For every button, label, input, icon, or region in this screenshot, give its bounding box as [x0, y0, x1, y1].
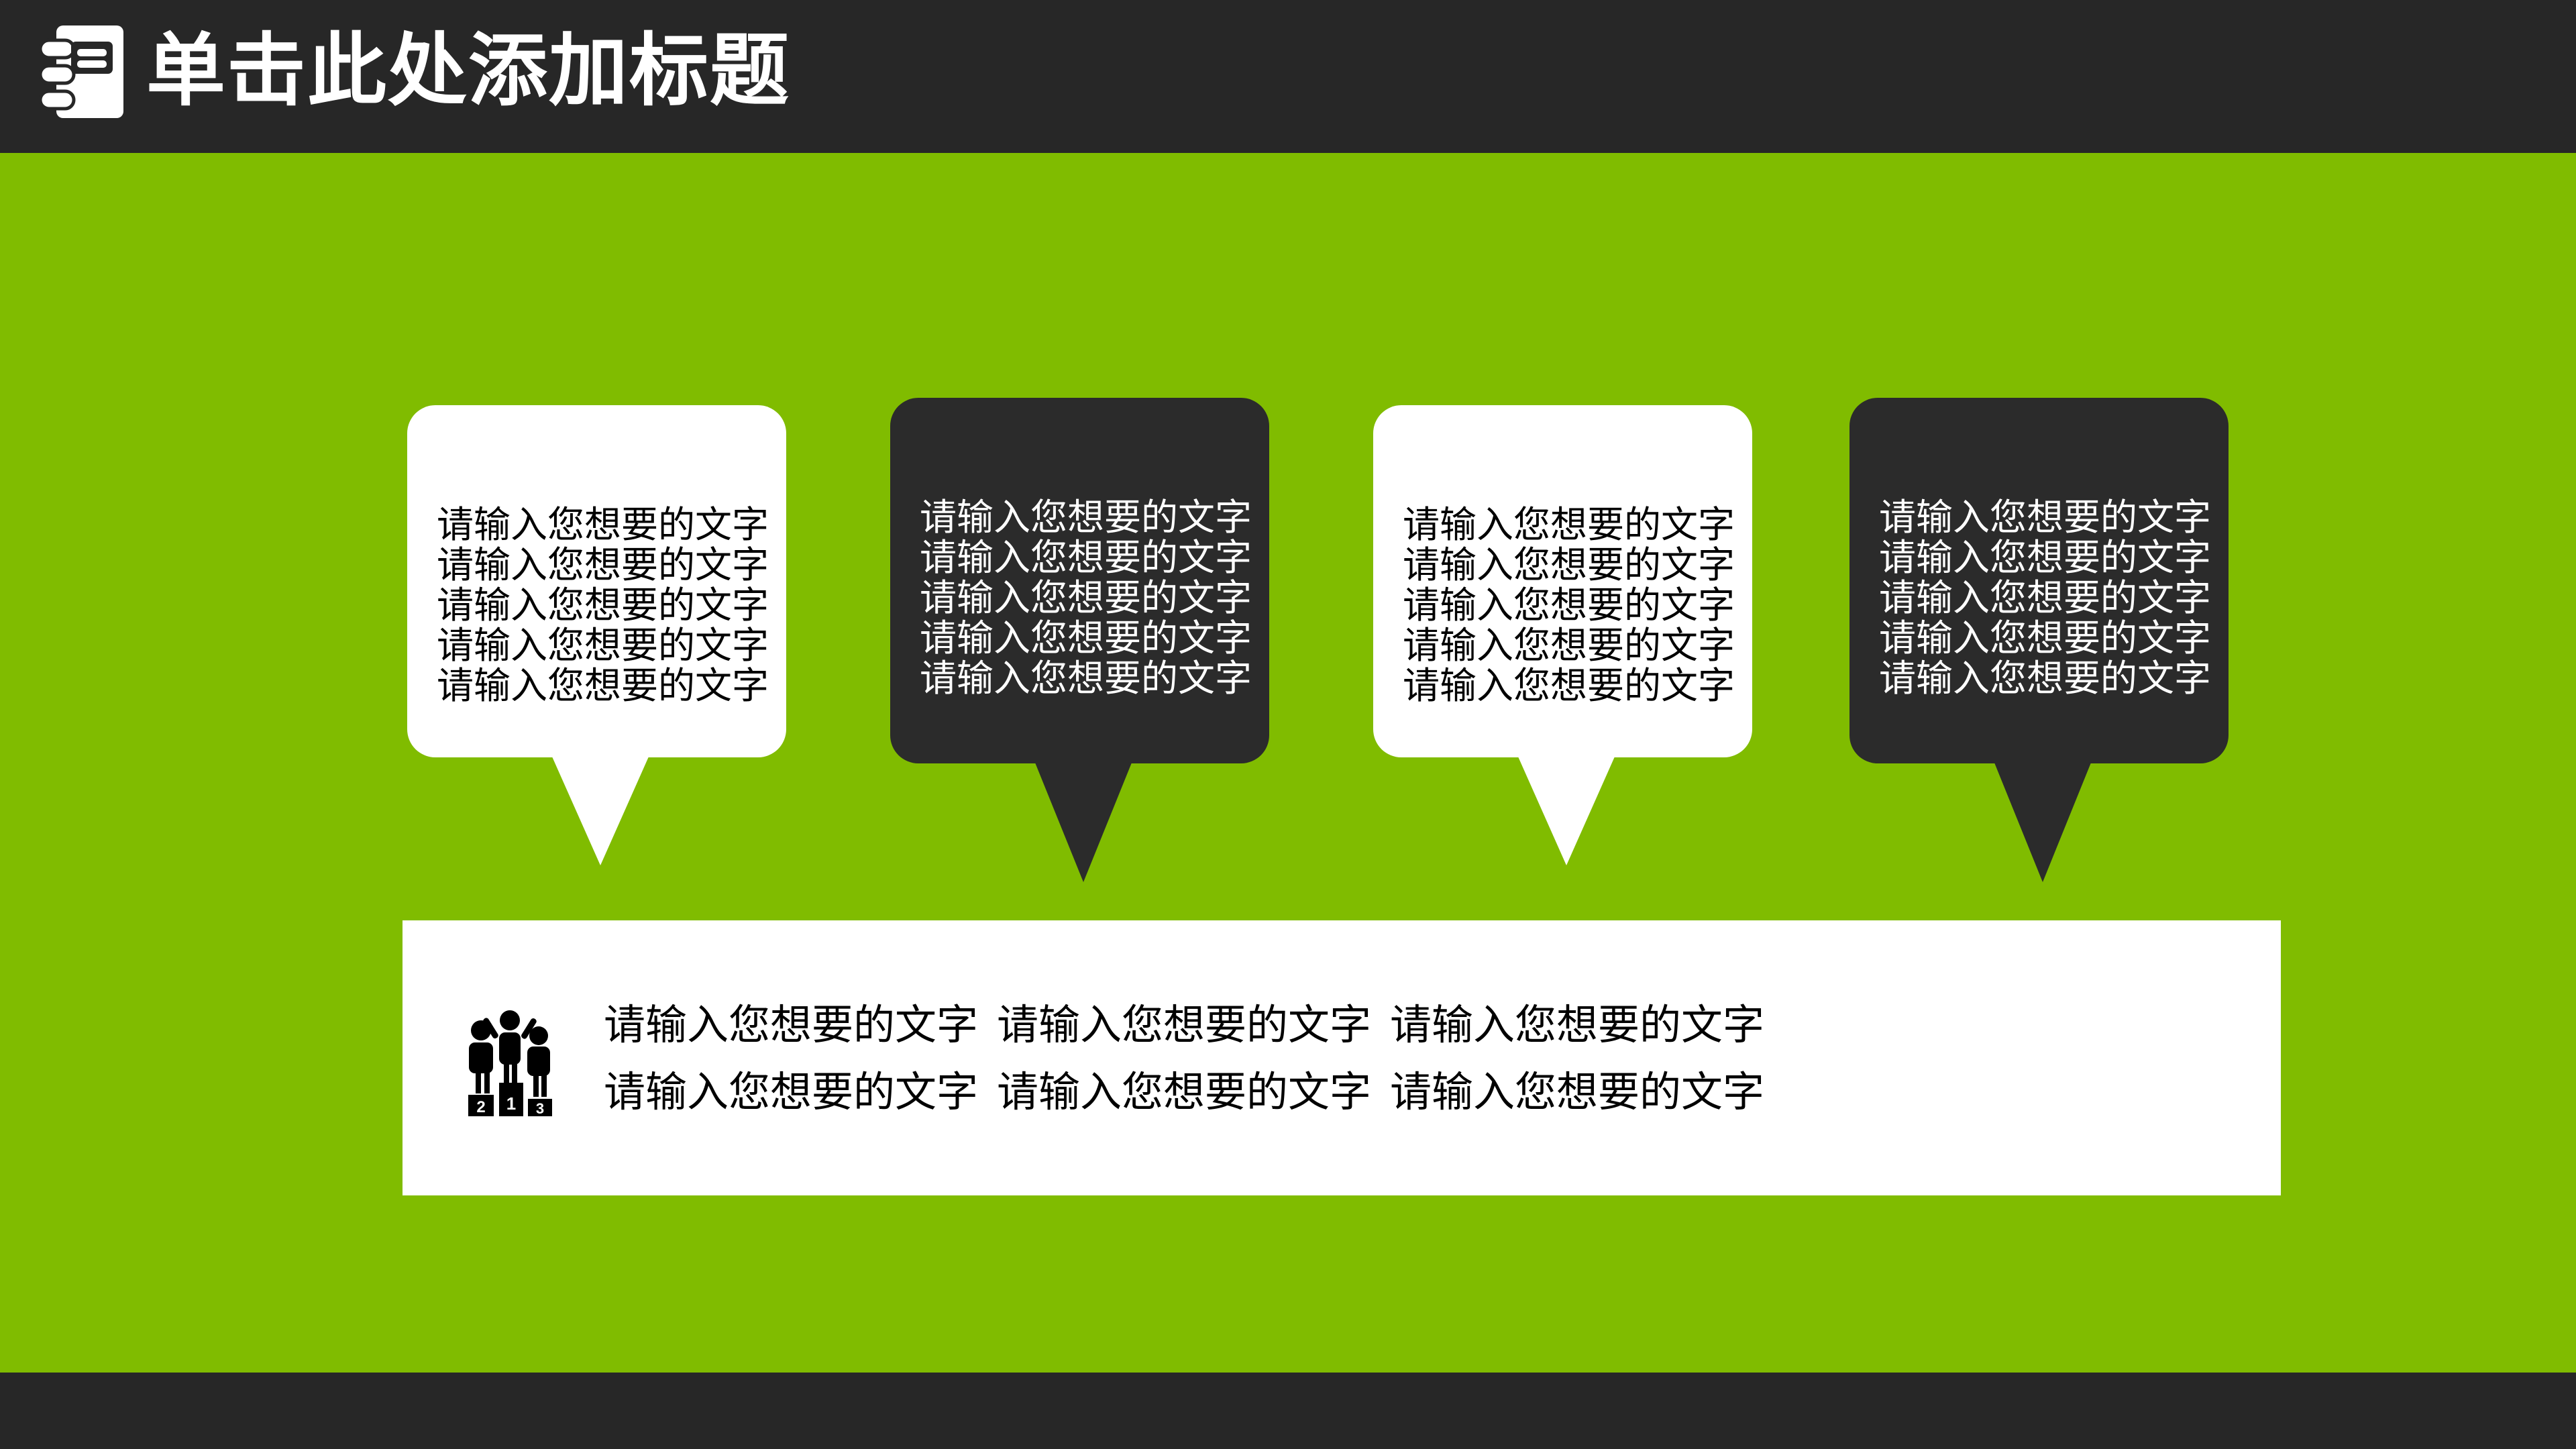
- summary-panel[interactable]: 1 2 3 请输入您想要的文字 请输入您想要的文字 请输入您想要的文字 请输入您…: [402, 920, 2281, 1195]
- podium-label-3: 3: [536, 1100, 544, 1116]
- callout-bubble-4-text: 请输入您想要的文字 请输入您想要的文字 请输入您想要的文字 请输入您想要的文字 …: [1879, 497, 2211, 698]
- summary-row: 请输入您想要的文字 请输入您想要的文字 请输入您想要的文字: [604, 1000, 1764, 1052]
- callout-bubble-4[interactable]: 请输入您想要的文字 请输入您想要的文字 请输入您想要的文字 请输入您想要的文字 …: [1849, 398, 2229, 763]
- podium-label-1: 1: [506, 1093, 516, 1114]
- summary-cell: 请输入您想要的文字: [1390, 1000, 1764, 1052]
- summary-cell: 请输入您想要的文字: [997, 1067, 1371, 1119]
- callout-bubble-3[interactable]: 请输入您想要的文字 请输入您想要的文字 请输入您想要的文字 请输入您想要的文字 …: [1373, 405, 1752, 757]
- callout-bubble-2-tail: [1035, 763, 1132, 882]
- page-title: 单击此处添加标题: [146, 30, 790, 113]
- callout-bubble-3-text: 请输入您想要的文字 请输入您想要的文字 请输入您想要的文字 请输入您想要的文字 …: [1403, 504, 1735, 706]
- summary-cell: 请输入您想要的文字: [604, 1000, 978, 1052]
- podium-winners-icon: 1 2 3: [448, 1001, 569, 1116]
- podium-label-2: 2: [476, 1098, 485, 1116]
- summary-cell: 请输入您想要的文字: [1390, 1067, 1764, 1119]
- slide-header-bar: 单击此处添加标题: [0, 0, 2576, 153]
- summary-cell: 请输入您想要的文字: [604, 1067, 978, 1119]
- callout-bubble-1-tail: [552, 757, 649, 865]
- callout-bubble-4-tail: [1994, 763, 2091, 882]
- notebook-icon: [39, 21, 127, 122]
- callout-bubble-2-text: 请输入您想要的文字 请输入您想要的文字 请输入您想要的文字 请输入您想要的文字 …: [920, 497, 1252, 698]
- slide-canvas: 单击此处添加标题 请输入您想要的文字 请输入您想要的文字 请输入您想要的文字 请…: [0, 0, 2576, 1449]
- summary-cell: 请输入您想要的文字: [997, 1000, 1371, 1052]
- callout-bubble-2[interactable]: 请输入您想要的文字 请输入您想要的文字 请输入您想要的文字 请输入您想要的文字 …: [890, 398, 1269, 763]
- slide-footer-bar: [0, 1373, 2576, 1449]
- callout-bubble-1[interactable]: 请输入您想要的文字 请输入您想要的文字 请输入您想要的文字 请输入您想要的文字 …: [407, 405, 786, 757]
- summary-text-grid: 请输入您想要的文字 请输入您想要的文字 请输入您想要的文字 请输入您想要的文字 …: [604, 1000, 1764, 1119]
- callout-bubble-3-tail: [1518, 757, 1615, 865]
- summary-row: 请输入您想要的文字 请输入您想要的文字 请输入您想要的文字: [604, 1067, 1764, 1119]
- callout-bubble-1-text: 请输入您想要的文字 请输入您想要的文字 请输入您想要的文字 请输入您想要的文字 …: [437, 504, 769, 706]
